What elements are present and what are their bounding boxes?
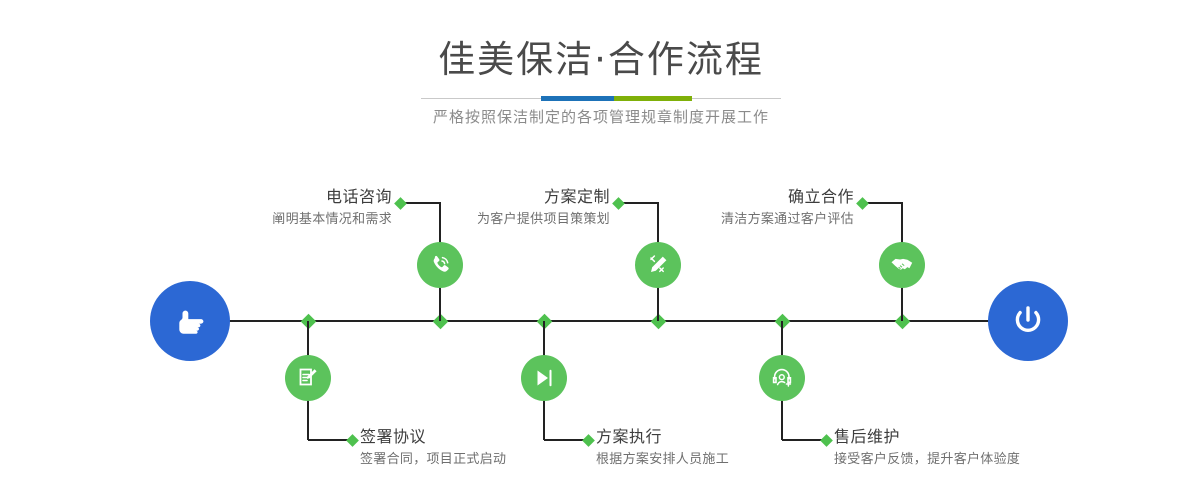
document-edit-icon <box>295 365 321 391</box>
flow-end-endpoint[interactable] <box>988 281 1068 361</box>
pointing-hand-icon <box>169 300 211 342</box>
flow-node-1-title: 电话咨询 <box>272 187 392 207</box>
flow-node-4-title: 方案执行 <box>596 427 729 447</box>
flow-node-3-title: 方案定制 <box>477 187 610 207</box>
label-marker-1 <box>394 197 407 210</box>
flow-node-6-subtitle: 接受客户反馈，提升客户体验度 <box>834 450 1020 469</box>
flow-node-4-label: 方案执行 根据方案安排人员施工 <box>596 427 729 469</box>
flow-node-5-title: 确立合作 <box>721 187 854 207</box>
flow-node-5-subtitle: 清洁方案通过客户评估 <box>721 210 854 229</box>
label-marker-4 <box>582 434 595 447</box>
headset-support-icon <box>769 365 795 391</box>
flow-node-6-label: 售后维护 接受客户反馈，提升客户体验度 <box>834 427 1020 469</box>
flow-node-6-bubble[interactable] <box>759 355 805 401</box>
pencil-plan-icon <box>645 252 671 278</box>
power-icon <box>1006 299 1050 343</box>
flow-node-3-bubble[interactable] <box>635 242 681 288</box>
label-marker-6 <box>820 434 833 447</box>
connector-arm-6 <box>782 439 824 441</box>
flow-node-3-subtitle: 为客户提供项目策策划 <box>477 210 610 229</box>
phone-ring-icon <box>427 252 453 278</box>
flow-node-5-bubble[interactable] <box>879 242 925 288</box>
flow-node-1-label: 电话咨询 阐明基本情况和需求 <box>272 187 392 229</box>
flow-node-2-label: 签署协议 签署合同，项目正式启动 <box>360 427 506 469</box>
flow-node-4-bubble[interactable] <box>521 355 567 401</box>
process-flow-infographic: 佳美保洁·合作流程 严格按照保洁制定的各项管理规章制度开展工作 <box>0 0 1202 502</box>
flow-node-1-subtitle: 阐明基本情况和需求 <box>272 210 392 229</box>
label-marker-5 <box>856 197 869 210</box>
flow-node-2-title: 签署协议 <box>360 427 506 447</box>
flow-node-6-title: 售后维护 <box>834 427 1020 447</box>
flow-node-2-bubble[interactable] <box>285 355 331 401</box>
play-execute-icon <box>531 365 557 391</box>
connector-arm-2 <box>308 439 350 441</box>
flow-node-1-bubble[interactable] <box>417 242 463 288</box>
flow-diagram: 电话咨询 阐明基本情况和需求 签署协议 签署合同， <box>0 0 1202 502</box>
label-marker-3 <box>612 197 625 210</box>
flow-node-3-label: 方案定制 为客户提供项目策策划 <box>477 187 610 229</box>
flow-node-5-label: 确立合作 清洁方案通过客户评估 <box>721 187 854 229</box>
flow-node-4-subtitle: 根据方案安排人员施工 <box>596 450 729 469</box>
label-marker-2 <box>346 434 359 447</box>
flow-start-endpoint[interactable] <box>150 281 230 361</box>
connector-arm-4 <box>544 439 586 441</box>
handshake-icon <box>888 251 916 279</box>
flow-node-2-subtitle: 签署合同，项目正式启动 <box>360 450 506 469</box>
